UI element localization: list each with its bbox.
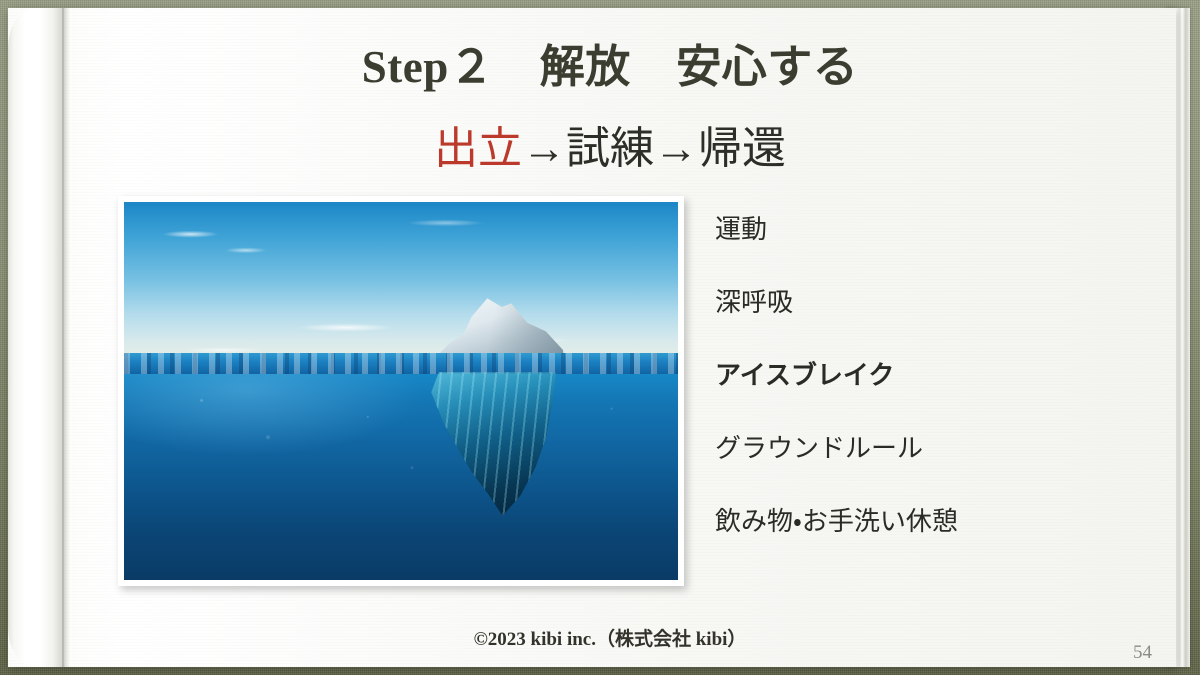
underwater-bubbles bbox=[124, 376, 678, 580]
page-gutter-crease bbox=[62, 8, 70, 667]
list-item: アイスブレイク bbox=[715, 362, 1135, 388]
subtitle-rest-text: →試練→帰還 bbox=[522, 124, 786, 173]
slide-content: Step２ 解放 安心する 出立→試練→帰還 bbox=[70, 8, 1176, 667]
iceberg-photo-frame bbox=[118, 196, 684, 586]
clouds-layer bbox=[124, 202, 678, 363]
page-curl-left bbox=[8, 8, 64, 667]
slide-backdrop: Step２ 解放 安心する 出立→試練→帰還 bbox=[0, 0, 1200, 675]
page-number: 54 bbox=[1133, 642, 1152, 664]
list-item: 運動 bbox=[715, 216, 1135, 242]
book-page: Step２ 解放 安心する 出立→試練→帰還 bbox=[8, 8, 1176, 667]
list-item: 飲み物・お手洗い休憩 bbox=[715, 508, 1135, 534]
footer-copyright: ©2023 kibi inc.（株式会社 kibi） bbox=[70, 624, 1150, 651]
iceberg-photo bbox=[124, 202, 678, 580]
slide-subtitle: 出立→試練→帰還 bbox=[70, 112, 1150, 176]
bullet-list: 運動 深呼吸 アイスブレイク グラウンドルール 飲み物・お手洗い休憩 bbox=[715, 216, 1135, 581]
list-item: グラウンドルール bbox=[715, 435, 1135, 461]
subtitle-accent-text: 出立 bbox=[434, 124, 522, 173]
list-item: 深呼吸 bbox=[715, 289, 1135, 315]
page-title: Step２ 解放 安心する bbox=[70, 30, 1150, 95]
